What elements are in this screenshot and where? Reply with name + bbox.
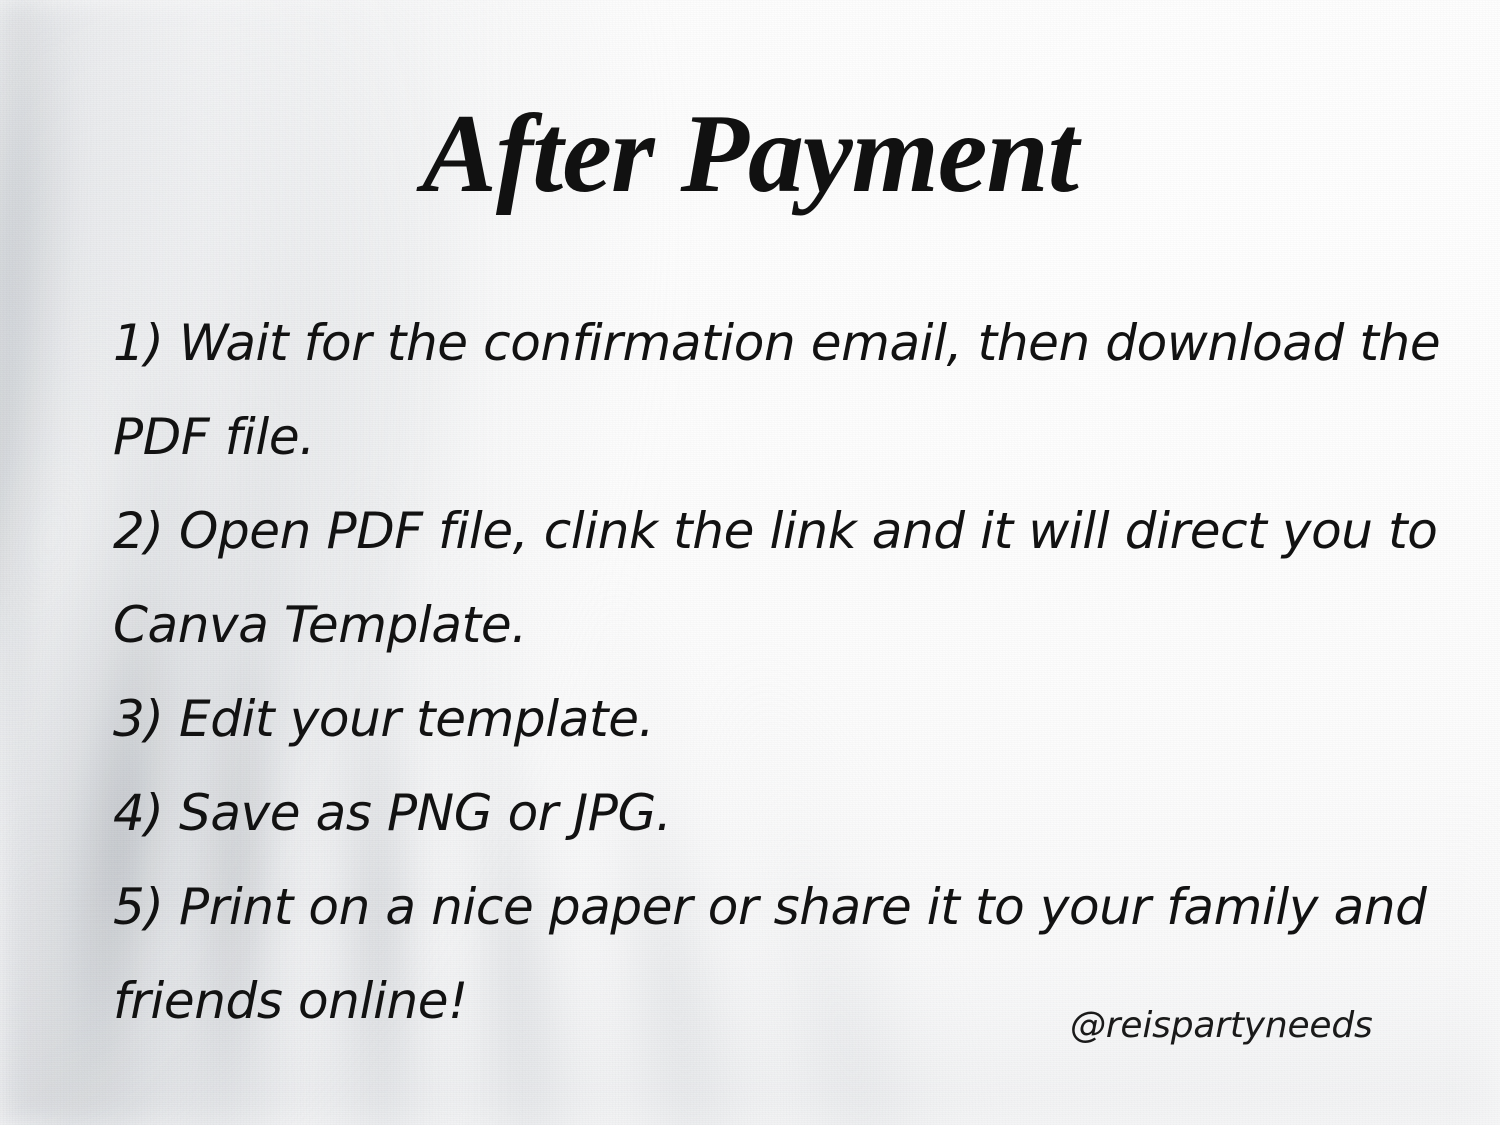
instruction-line: 5) Print on a nice paper or share it to … <box>113 860 1443 954</box>
instruction-line: 4) Save as PNG or JPG. <box>113 766 1443 860</box>
after-payment-graphic: After Payment 1) Wait for the confirmati… <box>0 0 1500 1125</box>
instructions-list: 1) Wait for the confirmation email, then… <box>113 296 1443 1048</box>
instruction-line: 1) Wait for the confirmation email, then… <box>113 296 1443 390</box>
page-title: After Payment <box>0 98 1500 210</box>
instruction-line: PDF file. <box>113 390 1443 484</box>
instruction-line: 2) Open PDF file, clink the link and it … <box>113 484 1443 578</box>
instruction-line: 3) Edit your template. <box>113 672 1443 766</box>
content-layer: After Payment 1) Wait for the confirmati… <box>0 0 1500 1125</box>
instruction-line: Canva Template. <box>113 578 1443 672</box>
shop-handle-watermark: @reispartyneeds <box>1070 1005 1370 1046</box>
